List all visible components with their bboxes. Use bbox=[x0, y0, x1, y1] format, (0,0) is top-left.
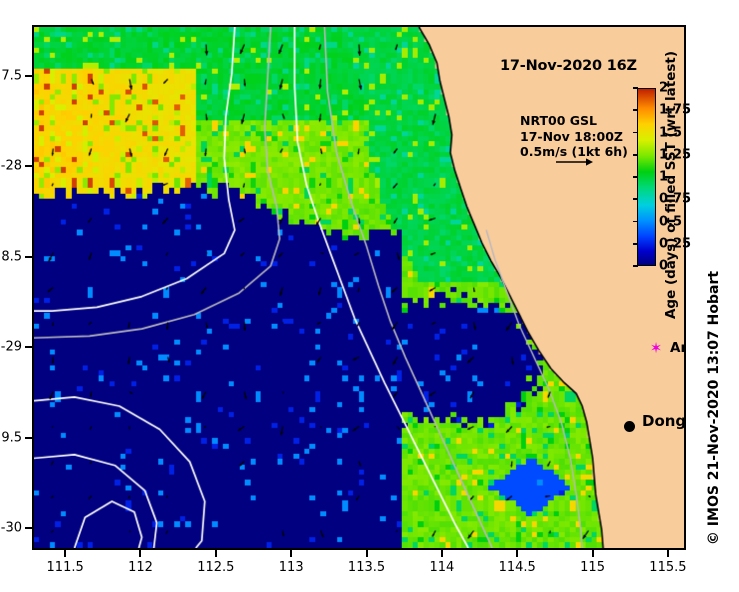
map-plot-area[interactable]: 17-Nov-2020 16Z NRT00 GSL 17-Nov 18:00Z … bbox=[32, 25, 686, 550]
y-axis-tick bbox=[25, 75, 32, 77]
x-axis-tick-label: 112 bbox=[128, 560, 153, 575]
colorbar-title: Age (days) of filled SST (wrt latest) bbox=[663, 51, 679, 319]
colorbar-tick bbox=[633, 198, 638, 200]
y-axis-tick-label: -29.5 bbox=[0, 430, 22, 445]
x-axis-tick-label: 112.5 bbox=[197, 560, 234, 575]
x-axis-tick-label: 115 bbox=[580, 560, 605, 575]
gsl-time-label: 17-Nov 18:00Z bbox=[520, 129, 628, 145]
y-axis-tick bbox=[25, 437, 32, 439]
colorbar[interactable] bbox=[637, 88, 656, 266]
contour-200m-label: 200m bbox=[685, 527, 686, 543]
y-axis-tick-label: -29 bbox=[1, 340, 22, 355]
colorbar-tick bbox=[633, 87, 638, 89]
argo-float-marker-icon[interactable]: ✶ bbox=[649, 341, 663, 355]
colorbar-tick bbox=[633, 176, 638, 178]
figure-root: 17-Nov-2020 16Z NRT00 GSL 17-Nov 18:00Z … bbox=[0, 0, 739, 592]
depth-contour-legend: 200m 1000m bbox=[685, 527, 686, 550]
colorbar-tick bbox=[633, 243, 638, 245]
x-axis-tick bbox=[290, 550, 292, 557]
y-axis-tick-label: -28.5 bbox=[0, 249, 22, 264]
y-axis-tick bbox=[25, 165, 32, 167]
x-axis-tick bbox=[139, 550, 141, 557]
y-axis-tick-label: -30 bbox=[1, 521, 22, 536]
x-axis-tick bbox=[667, 550, 669, 557]
colorbar-tick bbox=[633, 265, 638, 267]
x-axis-tick-label: 111.5 bbox=[47, 560, 84, 575]
colorbar-gradient bbox=[637, 88, 656, 266]
current-vector-legend: NRT00 GSL 17-Nov 18:00Z 0.5m/s (1kt 6h) bbox=[520, 113, 628, 160]
date-stamp-label: 17-Nov-2020 16Z bbox=[500, 58, 637, 74]
y-axis-tick bbox=[25, 346, 32, 348]
y-axis-tick bbox=[25, 527, 32, 529]
y-axis-tick-label: -27.5 bbox=[0, 68, 22, 83]
x-axis-tick bbox=[64, 550, 66, 557]
contour-1000m-label: 1000m bbox=[685, 543, 686, 550]
x-axis-tick bbox=[441, 550, 443, 557]
argo-label: Argo bbox=[670, 340, 686, 356]
credit-label: © IMOS 21-Nov-2020 13:07 Hobart bbox=[706, 271, 722, 545]
x-axis-tick bbox=[592, 550, 594, 557]
x-axis-tick bbox=[366, 550, 368, 557]
colorbar-tick bbox=[633, 132, 638, 134]
y-axis-tick-label: -28 bbox=[1, 159, 22, 174]
x-axis-tick-label: 113.5 bbox=[348, 560, 385, 575]
x-axis-tick-label: 113 bbox=[279, 560, 304, 575]
colorbar-tick bbox=[633, 221, 638, 223]
x-axis-tick bbox=[516, 550, 518, 557]
x-axis-tick-label: 114.5 bbox=[499, 560, 536, 575]
x-axis-tick-label: 115.5 bbox=[649, 560, 686, 575]
colorbar-tick bbox=[633, 109, 638, 111]
colorbar-tick bbox=[633, 154, 638, 156]
y-axis-tick bbox=[25, 256, 32, 258]
x-axis-tick bbox=[215, 550, 217, 557]
x-axis-tick-label: 114 bbox=[429, 560, 454, 575]
sst-age-heatmap-canvas bbox=[34, 27, 684, 548]
dongara-label: Dongara bbox=[642, 412, 686, 430]
reference-vector-arrow-icon bbox=[555, 157, 593, 167]
gsl-source-label: NRT00 GSL bbox=[520, 113, 628, 129]
dongara-town-marker-icon[interactable] bbox=[624, 421, 635, 432]
